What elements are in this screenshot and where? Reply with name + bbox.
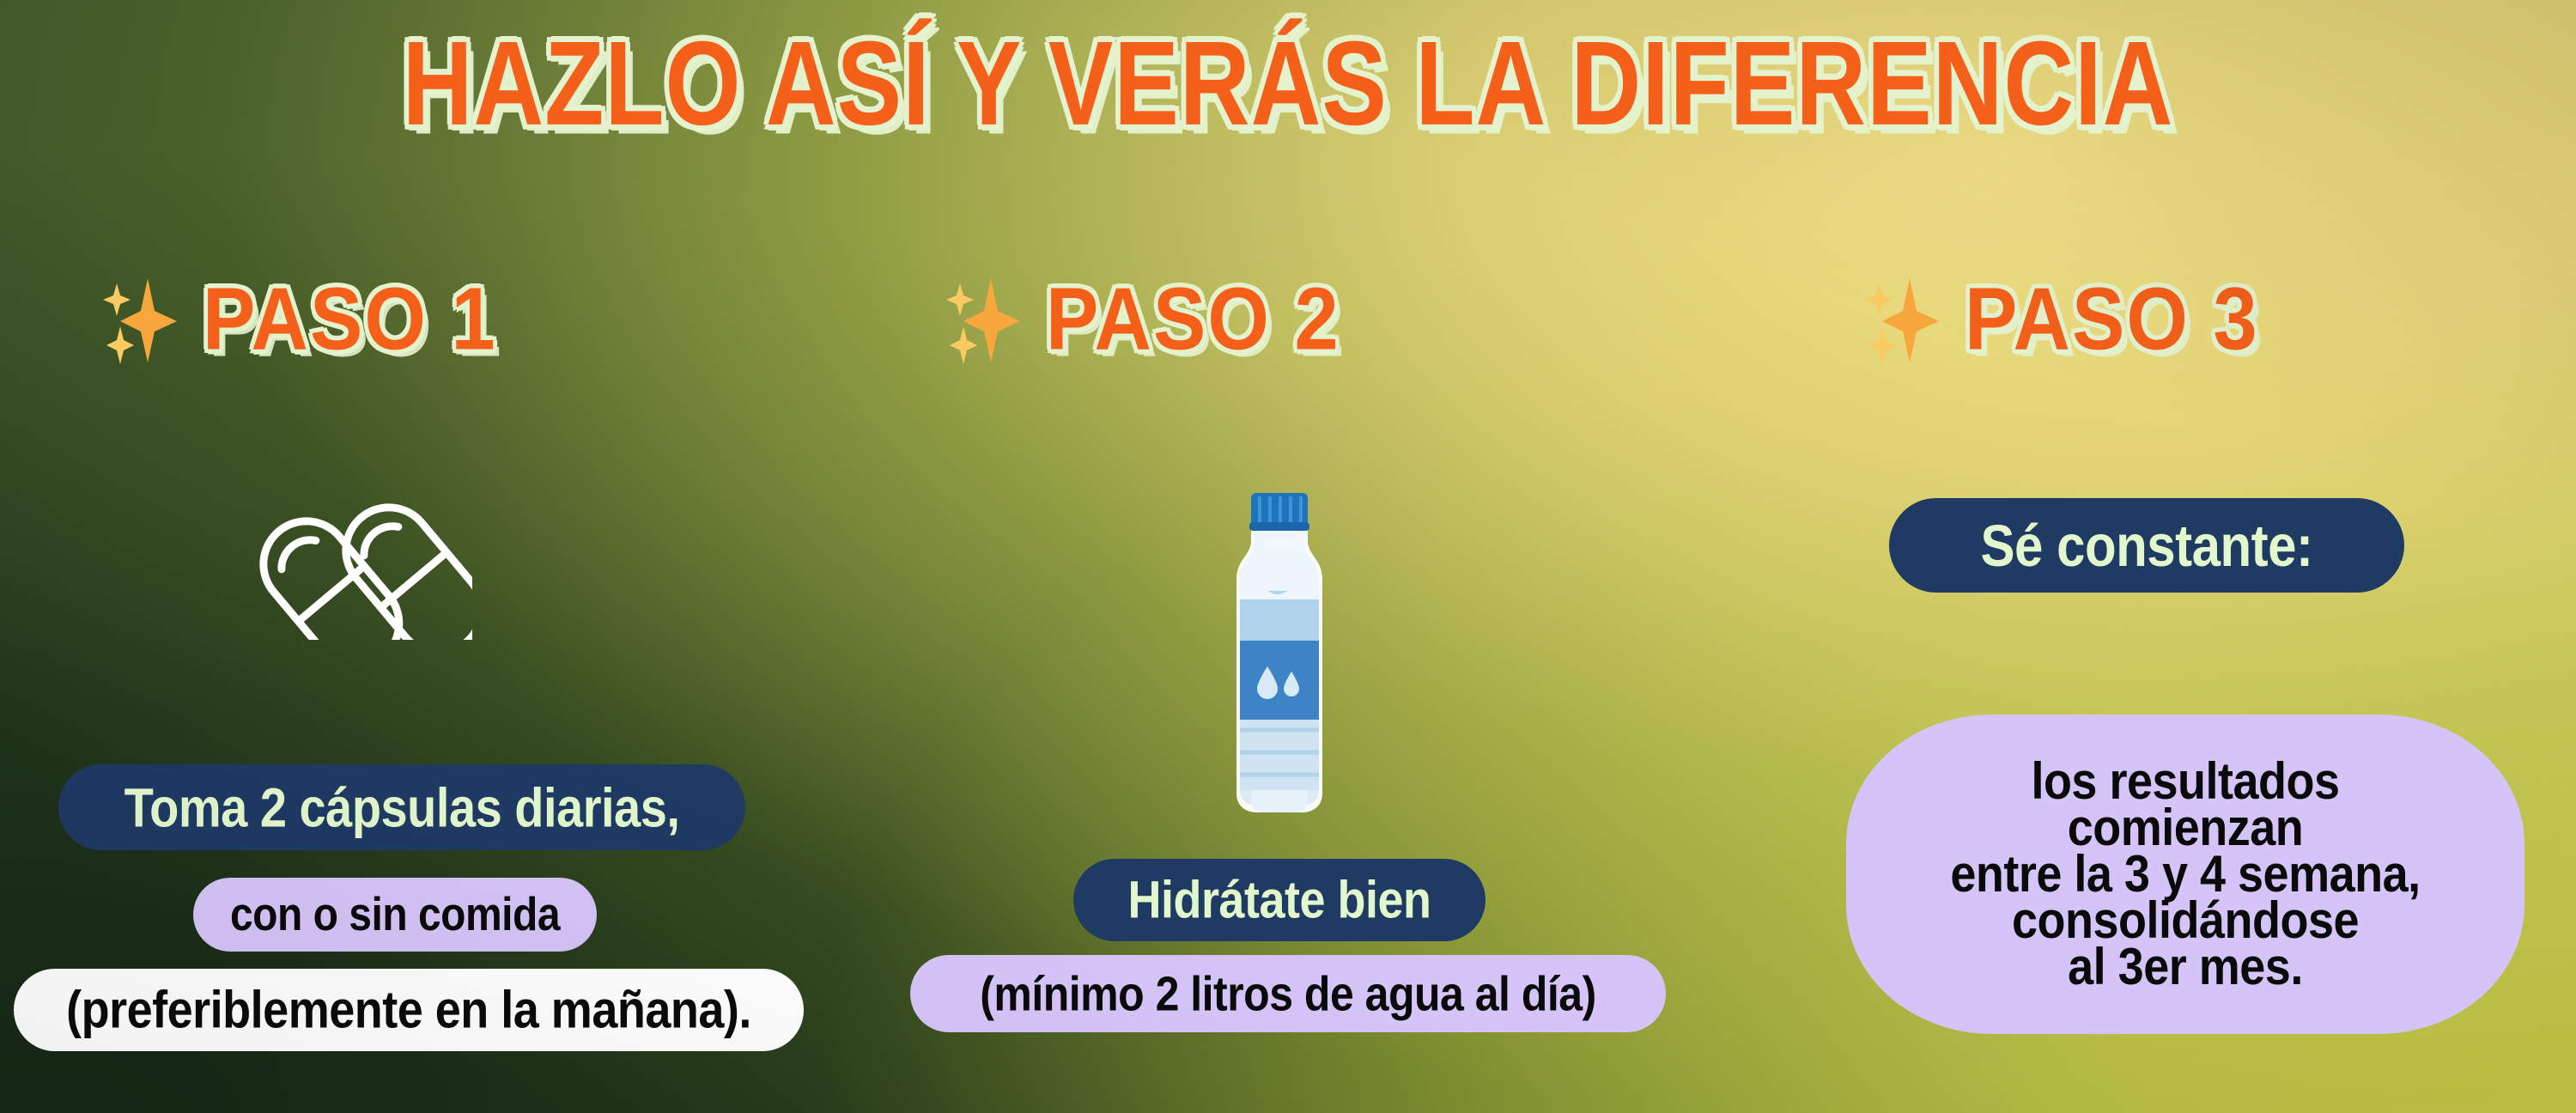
step-3-bubble-1-text: Sé constante: [1981,512,2313,580]
poster-canvas: HAZLO ASÍ Y VERÁS LA DIFERENCIA PASO 1 [0,0,2576,1113]
step-2-bubble-1: Hidrátate bien [1073,859,1485,941]
sparkles-icon [101,273,180,366]
step-2-heading: PASO 2 [945,273,1340,366]
step-1-bubble-3: (preferiblemente en la mañana). [14,969,804,1051]
step-3-heading: PASO 3 [1863,273,2259,366]
page-title: HAZLO ASÍ Y VERÁS LA DIFERENCIA [52,24,2524,143]
step-1-bubble-1-text: Toma 2 cápsulas diarias, [125,775,680,839]
step-2-bubble-2-text: (mínimo 2 litros de agua al día) [980,965,1595,1022]
water-bottle-icon [1206,481,1352,816]
sparkles-icon [1863,273,1942,366]
step-1-bubble-1: Toma 2 cápsulas diarias, [58,764,745,850]
step-1-heading: PASO 1 [101,273,497,366]
step-1-label: PASO 1 [203,269,497,370]
step-3-result-line-5: al 3er mes. [2068,941,2303,993]
step-1-bubble-2-text: con o sin comida [230,888,560,942]
step-2-bubble-1-text: Hidrátate bien [1127,870,1431,931]
step-2-label: PASO 2 [1046,269,1340,370]
step-3-label: PASO 3 [1965,269,2259,370]
step-1-bubble-2: con o sin comida [193,878,597,952]
step-3-bubble-1: Sé constante: [1889,498,2404,593]
capsules-icon [249,477,472,640]
step-column-1: PASO 1 Toma 2 cápsulas diarias, con o [0,0,824,1113]
sparkles-icon [945,273,1024,366]
step-2-bubble-2: (mínimo 2 litros de agua al día) [910,955,1666,1032]
step-3-result-bubble: los resultados comienzan entre la 3 y 4 … [1846,715,2524,1034]
step-1-bubble-3-text: (preferiblemente en la mañana). [66,980,751,1041]
steps-container: PASO 1 Toma 2 cápsulas diarias, con o [0,0,2576,1113]
